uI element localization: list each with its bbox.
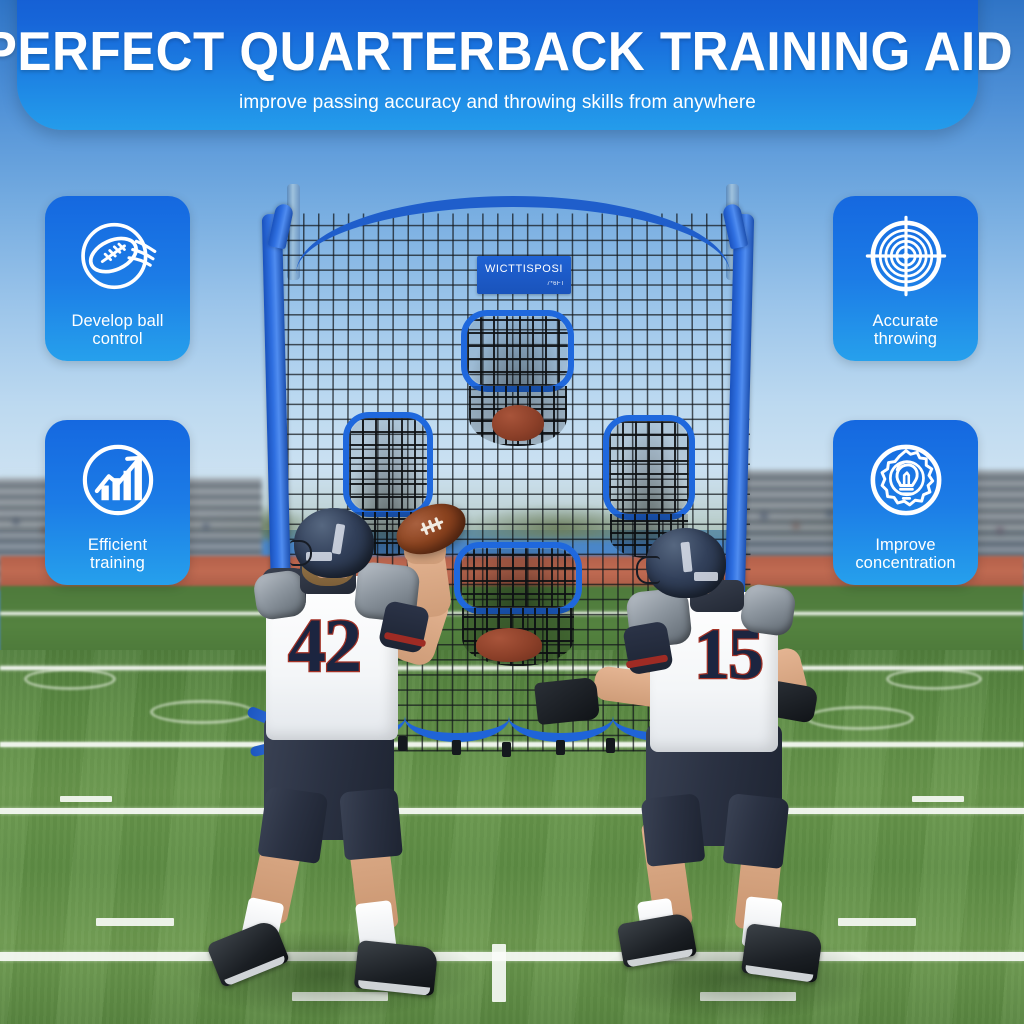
facemask: [290, 540, 312, 566]
brand-name-text: WICTTISPOSI: [485, 264, 563, 275]
cleat-right: [354, 940, 439, 996]
net-strap-tab: [556, 740, 565, 755]
target-pocket-top-center: [461, 310, 574, 392]
page-title: PERFECT QUARTERBACK TRAINING AID: [0, 24, 1013, 79]
target-pocket-center: [454, 542, 582, 614]
net-strap-tab: [502, 742, 511, 757]
product-size-text: 7*6FT: [547, 281, 565, 287]
gear-bulb-icon: [860, 434, 952, 526]
helmet-stripe: [680, 542, 692, 573]
page-subtitle: improve passing accuracy and throwing sk…: [239, 92, 756, 114]
pants-leg-left: [641, 793, 706, 867]
cleat-right: [741, 923, 823, 983]
shoulder-pad-right: [739, 583, 797, 638]
feature-label: Develop ball control: [71, 313, 163, 348]
pants-leg-right: [339, 788, 403, 861]
feature-badge-develop-ball-control[interactable]: Develop ball control: [45, 196, 190, 361]
feature-badge-improve-concentration[interactable]: Improve concentration: [833, 420, 978, 585]
net-strap-tab: [398, 736, 407, 751]
pants-leg-left: [257, 786, 328, 864]
caught-football-top: [492, 405, 544, 441]
target-pocket-mid-left: [343, 412, 433, 517]
growth-chart-icon: [72, 434, 164, 526]
facemask: [636, 556, 660, 584]
product-feature-image: WICTTISPOSI 7*6FT: [0, 0, 1024, 1024]
net-strap-tab: [452, 740, 461, 755]
feature-badge-efficient-training[interactable]: Efficient training: [45, 420, 190, 585]
jersey-number-42: 42: [288, 608, 360, 684]
feature-label: Efficient training: [88, 537, 147, 572]
feature-label: Improve concentration: [855, 537, 955, 572]
feature-badge-accurate-throwing[interactable]: Accurate throwing: [833, 196, 978, 361]
brand-label: WICTTISPOSI 7*6FT: [477, 256, 571, 294]
target-pocket-mid-right: [603, 415, 695, 520]
glove: [534, 677, 600, 725]
feature-label: Accurate throwing: [873, 313, 939, 348]
football-icon: [72, 210, 164, 302]
target-icon: [860, 210, 952, 302]
helmet-stripe: [332, 523, 346, 554]
helmet-decal: [694, 572, 718, 581]
net-strap-tab: [606, 738, 615, 753]
pants-leg-right: [723, 793, 790, 869]
caught-football-center: [476, 628, 542, 662]
header-banner: PERFECT QUARTERBACK TRAINING AID improve…: [17, 0, 978, 130]
